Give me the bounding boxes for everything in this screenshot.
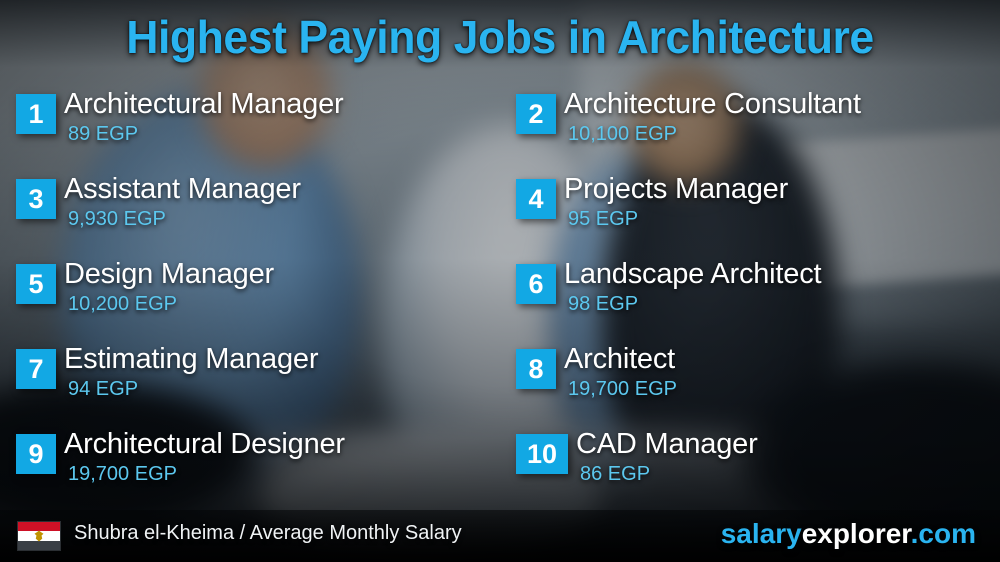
list-item[interactable]: 8 Architect 19,700 EGP — [500, 341, 1000, 426]
job-salary: 9,930 EGP — [68, 208, 166, 231]
job-title: Landscape Architect — [564, 258, 821, 291]
rank-badge: 10 — [516, 434, 568, 474]
rank-badge: 7 — [16, 349, 56, 389]
job-salary: 10,100 EGP — [568, 123, 677, 146]
rank-badge: 6 — [516, 264, 556, 304]
poster: Highest Paying Jobs in Architecture 1 Ar… — [0, 0, 1000, 562]
rank-badge: 2 — [516, 94, 556, 134]
job-title: Architectural Designer — [64, 428, 345, 461]
list-item[interactable]: 4 Projects Manager 95 EGP — [500, 171, 1000, 256]
job-salary: 94 EGP — [68, 378, 138, 401]
rank-badge: 3 — [16, 179, 56, 219]
job-salary: 89 EGP — [68, 123, 138, 146]
list-item[interactable]: 1 Architectural Manager 89 EGP — [0, 86, 500, 171]
page-title: Highest Paying Jobs in Architecture — [15, 10, 985, 64]
job-salary: 19,700 EGP — [568, 378, 677, 401]
job-salary: 10,200 EGP — [68, 293, 177, 316]
rank-badge: 1 — [16, 94, 56, 134]
egypt-flag-icon — [17, 521, 61, 551]
jobs-list: 1 Architectural Manager 89 EGP 2 Archite… — [0, 86, 1000, 511]
brand-logo[interactable]: salaryexplorer.com — [721, 518, 976, 550]
rank-badge: 8 — [516, 349, 556, 389]
list-item[interactable]: 9 Architectural Designer 19,700 EGP — [0, 426, 500, 511]
list-item[interactable]: 2 Architecture Consultant 10,100 EGP — [500, 86, 1000, 171]
job-title: Architecture Consultant — [564, 88, 861, 121]
list-item[interactable]: 6 Landscape Architect 98 EGP — [500, 256, 1000, 341]
job-title: CAD Manager — [576, 428, 758, 461]
list-item[interactable]: 10 CAD Manager 86 EGP — [500, 426, 1000, 511]
job-salary: 95 EGP — [568, 208, 638, 231]
list-item[interactable]: 7 Estimating Manager 94 EGP — [0, 341, 500, 426]
footer: Shubra el-Kheima / Average Monthly Salar… — [0, 510, 1000, 562]
poster-content: Highest Paying Jobs in Architecture 1 Ar… — [0, 0, 1000, 562]
location-caption: Shubra el-Kheima / Average Monthly Salar… — [74, 522, 462, 545]
job-title: Architectural Manager — [64, 88, 344, 121]
rank-badge: 9 — [16, 434, 56, 474]
rank-badge: 5 — [16, 264, 56, 304]
job-salary: 19,700 EGP — [68, 463, 177, 486]
brand-part-explorer: explorer — [802, 518, 911, 549]
job-title: Design Manager — [64, 258, 274, 291]
job-title: Architect — [564, 343, 675, 376]
job-title: Assistant Manager — [64, 173, 301, 206]
list-item[interactable]: 3 Assistant Manager 9,930 EGP — [0, 171, 500, 256]
job-title: Estimating Manager — [64, 343, 318, 376]
rank-badge: 4 — [516, 179, 556, 219]
list-item[interactable]: 5 Design Manager 10,200 EGP — [0, 256, 500, 341]
brand-part-tld: .com — [911, 518, 976, 549]
job-title: Projects Manager — [564, 173, 788, 206]
job-salary: 98 EGP — [568, 293, 638, 316]
brand-part-salary: salary — [721, 518, 802, 549]
job-salary: 86 EGP — [580, 463, 650, 486]
